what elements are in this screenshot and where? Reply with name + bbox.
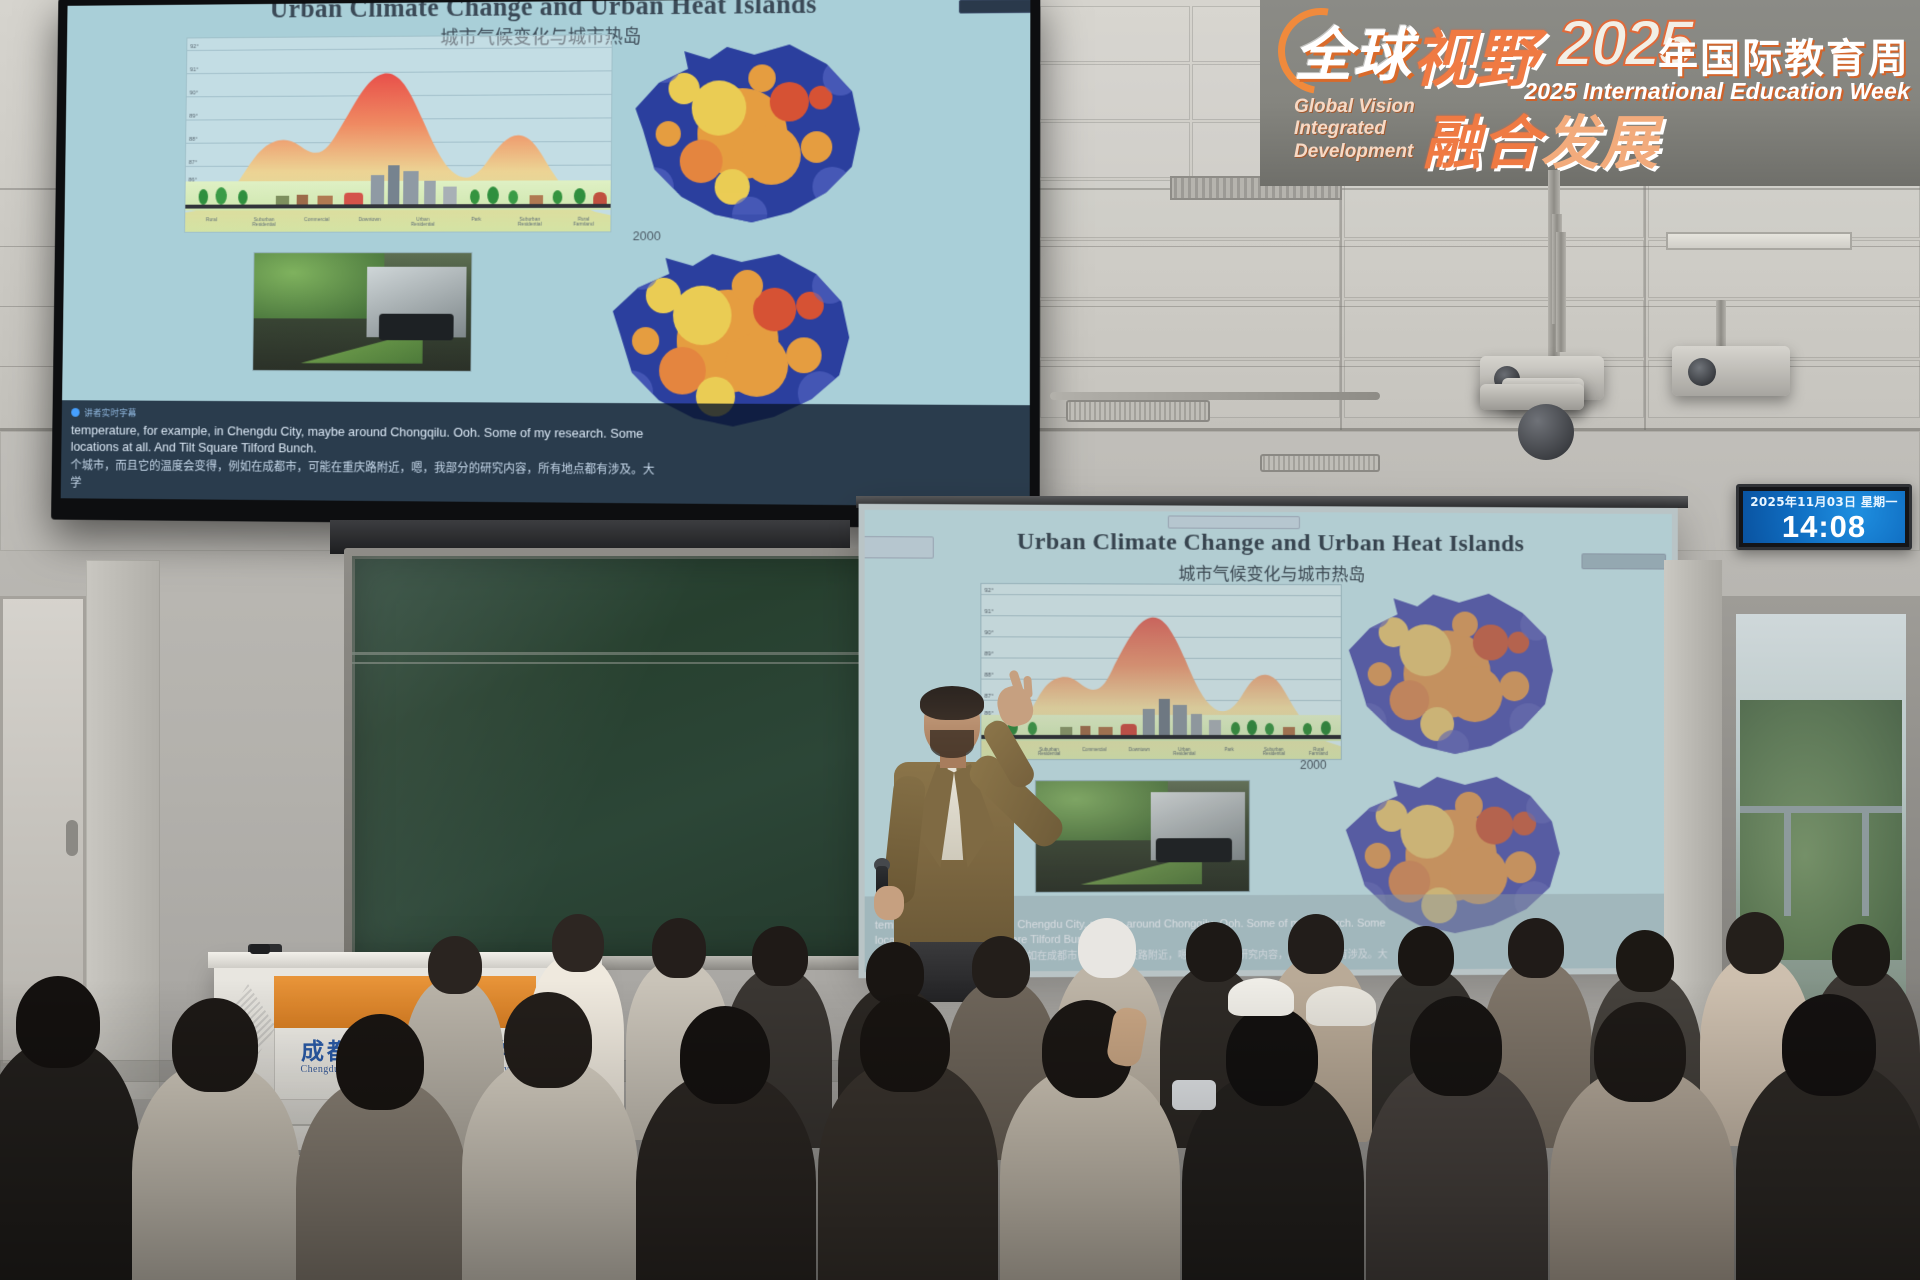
- banner-zh-education-week: 年国际教育周: [1658, 26, 1910, 84]
- audience-member-head: [752, 926, 808, 986]
- clock-time: 14:08: [1782, 511, 1866, 542]
- banner-zh-integrated: 融合: [1423, 96, 1541, 180]
- banner-en-education-week: 2025 International Education Week: [1524, 78, 1910, 105]
- ptz-camera-dome: [1518, 404, 1574, 460]
- lcd-screen-surface: Urban Climate Change and Urban Heat Isla…: [61, 0, 1031, 507]
- clock-date: 2025年11月03日 星期一: [1750, 493, 1897, 510]
- audience-member-head: [1288, 914, 1344, 974]
- ceiling-speaker-right: [1260, 454, 1380, 472]
- camera-bracket: [1480, 384, 1584, 410]
- slide-toolbar-chip[interactable]: [1168, 515, 1300, 529]
- slide-title-en-proj: Urban Climate Change and Urban Heat Isla…: [865, 528, 1672, 559]
- map-year-label-lcd: 2000: [633, 228, 661, 243]
- ceiling-conduit: [1050, 392, 1380, 400]
- event-banner: 全球 视野 Global Vision Integrated Developme…: [1260, 0, 1920, 186]
- audience-member-head: [552, 914, 604, 972]
- lst-map-upper-proj: [1340, 588, 1562, 758]
- presenter-beard: [930, 730, 974, 758]
- banner-headline-row-2: Global Vision Integrated Development 融合 …: [1294, 96, 1659, 180]
- presenter-finger: [1023, 676, 1033, 699]
- slide-chip-right-proj[interactable]: [1581, 553, 1666, 569]
- camera-pole-left: [1556, 232, 1566, 352]
- secondary-projector-lens-icon: [1688, 358, 1716, 386]
- banner-en-line-3: Development: [1294, 141, 1415, 163]
- banner-zh-development: 发展: [1541, 96, 1659, 180]
- caption-badge-text-lcd: 讲者实时字幕: [84, 406, 136, 419]
- audience-member-head: [1726, 912, 1784, 974]
- caption-status-dot-icon: [71, 408, 80, 417]
- presenter-hair: [920, 686, 984, 720]
- banner-en-subtitle: Global Vision Integrated Development: [1294, 96, 1415, 163]
- slide-chip-right-lcd[interactable]: [959, 0, 1030, 14]
- lst-map-lower-lcd: [600, 250, 857, 429]
- map-year-label-proj: 2000: [1300, 758, 1327, 772]
- uhi-profile-chart-lcd: 92° 91° 90° 89° 88° 87° 86°: [184, 34, 613, 233]
- banner-en-line-2: Integrated: [1294, 118, 1415, 140]
- audience: [0, 810, 1920, 1280]
- uhi-profile-chart-proj: 92° 91° 90° 89° 88° 87° 86°: [980, 583, 1341, 760]
- audience-member-head: [1398, 926, 1454, 986]
- led-wall-clock: 2025年11月03日 星期一 14:08: [1736, 484, 1912, 550]
- ceiling-light: [1666, 232, 1852, 250]
- clock-face: 2025年11月03日 星期一 14:08: [1743, 491, 1905, 543]
- banner-headline-row-1: 全球 视野: [1294, 8, 1538, 98]
- street-tree-photo-lcd: [252, 252, 472, 372]
- audience-shadow-overlay: [0, 980, 1920, 1280]
- audience-member-head: [1186, 922, 1242, 982]
- slide-chip-left-proj[interactable]: [865, 536, 934, 559]
- audience-member-head: [652, 918, 706, 978]
- live-caption-bar-lcd: 讲者实时字幕 temperature, for example, in Chen…: [61, 401, 1030, 507]
- audience-member-head: [1508, 918, 1564, 978]
- audience-member-head: [1832, 924, 1890, 986]
- lecture-hall-scene: 全球 视野 Global Vision Integrated Developme…: [0, 0, 1920, 1280]
- ceiling-speaker-left: [1066, 400, 1210, 422]
- audience-member-head: [1078, 918, 1136, 978]
- slide-on-lcd: Urban Climate Change and Urban Heat Isla…: [61, 0, 1031, 507]
- banner-zh-global: 全球: [1294, 8, 1412, 92]
- banner-zh-vision: 视野: [1412, 8, 1538, 98]
- lst-map-upper-lcd: [625, 38, 870, 226]
- banner-en-line-1: Global Vision: [1294, 96, 1415, 118]
- ceiling-lcd-display: Urban Climate Change and Urban Heat Isla…: [51, 0, 1040, 529]
- slide-header-proj: Urban Climate Change and Urban Heat Isla…: [865, 526, 1672, 586]
